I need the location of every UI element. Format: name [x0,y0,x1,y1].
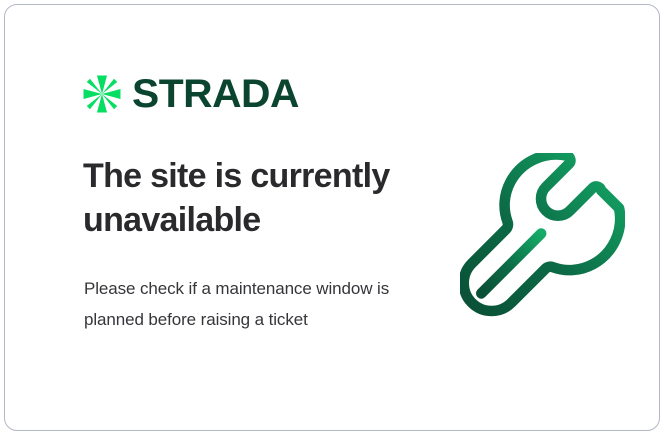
brand-lockup: STRADA [81,73,296,115]
page-description: Please check if a maintenance window is … [84,273,394,335]
strada-asterisk-icon [81,73,123,115]
page-title: The site is currently unavailable [83,155,413,242]
brand-wordmark: STRADA [132,74,299,114]
wrench-icon [460,153,625,318]
status-card: STRADA The site is currently unavailable… [4,4,660,431]
